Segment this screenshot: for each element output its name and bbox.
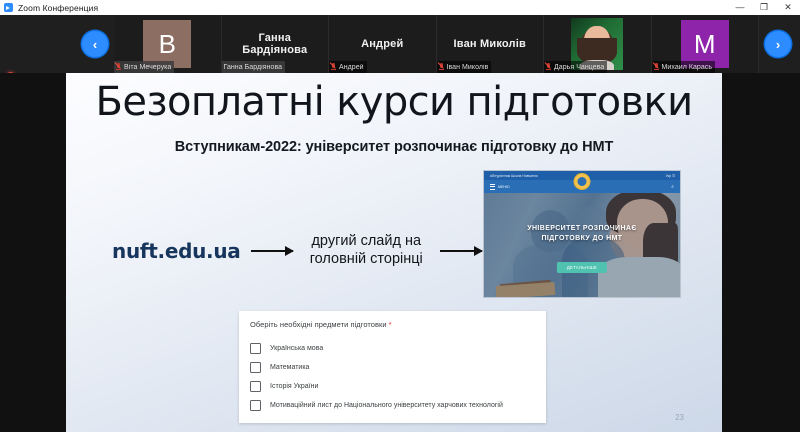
filmstrip-next-icon[interactable]: › (765, 31, 791, 57)
website-top-bar-links: Абітурієнтам Школа Навчання (490, 174, 538, 178)
form-option[interactable]: Українська мова (250, 339, 538, 358)
participant-namebar: Дарья Чанцева (544, 61, 607, 73)
participant-namebar: Іван Миколів (437, 61, 492, 73)
filmstrip-prev-icon[interactable]: ‹ (82, 31, 108, 57)
participant-display-name: Іван Миколів (450, 38, 530, 50)
hamburger-menu-icon (490, 184, 495, 190)
website-top-bar-right: Укр ☰ (666, 174, 675, 178)
website-url-text: nuft.edu.ua (112, 239, 241, 263)
university-logo-icon (574, 173, 591, 190)
flow-step-text: другий слайд на головній сторінці (303, 233, 431, 268)
mic-muted-icon (331, 63, 336, 71)
form-option-label: Історія України (270, 383, 318, 390)
participant-name: Михаил Карась (662, 64, 713, 71)
checkbox-icon[interactable] (250, 381, 261, 392)
window-title-bar: Zoom Конференция — ❐ ✕ (0, 0, 800, 16)
participant-name: Дарья Чанцева (554, 64, 604, 71)
google-form-card: Оберіть необхідні предмети підготовки* У… (239, 311, 546, 423)
participant-filmstrip: ‹ В Віта Мечерука Ганна Бардіянова Ганна… (0, 15, 800, 73)
window-controls: — ❐ ✕ (728, 0, 800, 15)
minimize-button[interactable]: — (728, 0, 752, 15)
form-option[interactable]: Математика (250, 358, 538, 377)
participant-namebar: Віта Мечерука (114, 61, 174, 73)
slide-title: Безоплатні курси підготовки (66, 79, 722, 125)
required-mark: * (389, 320, 392, 329)
form-option[interactable]: Історія України (250, 377, 538, 396)
form-question: Оберіть необхідні предмети підготовки* (250, 320, 392, 329)
mic-muted-icon (116, 63, 121, 71)
form-question-text: Оберіть необхідні предмети підготовки (250, 320, 387, 329)
mic-muted-icon (546, 63, 551, 71)
participant-name: Віта Мечерука (124, 64, 171, 71)
slide-subtitle: Вступникам-2022: університет розпочинає … (66, 139, 722, 155)
participant-tile[interactable]: В Віта Мечерука (114, 15, 222, 73)
arrow-right-icon (251, 250, 293, 252)
participant-name: Ганна Бардіянова (224, 64, 283, 71)
participant-name: Іван Миколів (447, 64, 489, 71)
zoom-icon (4, 3, 13, 12)
participant-display-name: Ганна Бардіянова (222, 32, 329, 56)
website-preview-image: Абітурієнтам Школа Навчання Укр ☰ МЕНЮ ⌕ (483, 170, 681, 298)
website-menu-label: МЕНЮ (498, 185, 510, 189)
participant-tiles: В Віта Мечерука Ганна Бардіянова Ганна Б… (114, 15, 759, 73)
participant-tile[interactable]: Дарья Чанцева (544, 15, 652, 73)
zoom-meeting-window: Zoom Конференция — ❐ ✕ ‹ В Віта Мечерука… (0, 0, 800, 432)
form-option-label: Українська мова (270, 345, 323, 352)
participant-tile[interactable]: Андрей Андрей (329, 15, 437, 73)
form-option-label: Мотиваційний лист до Національного уніве… (270, 402, 503, 409)
website-headline: УНІВЕРСИТЕТ РОЗПОЧИНАЄ ПІДГОТОВКУ ДО НМТ (484, 224, 680, 245)
participant-tile[interactable]: Іван Миколів Іван Миколів (437, 15, 545, 73)
website-hero-photo (484, 193, 680, 298)
checkbox-icon[interactable] (250, 400, 261, 411)
participant-display-name: Андрей (357, 38, 407, 50)
shared-screen-stage: Безоплатні курси підготовки Вступникам-2… (0, 73, 800, 432)
participant-namebar: Андрей (329, 61, 367, 73)
form-options: Українська мова Математика Історія Украї… (250, 339, 538, 415)
restore-button[interactable]: ❐ (752, 0, 776, 15)
form-option-label: Математика (270, 364, 309, 371)
website-headline-line2: ПІДГОТОВКУ ДО НМТ (484, 234, 680, 245)
close-button[interactable]: ✕ (776, 0, 800, 15)
window-title: Zoom Конференция (18, 3, 98, 13)
checkbox-icon[interactable] (250, 343, 261, 354)
participant-tile[interactable]: M Михаил Карась (652, 15, 760, 73)
search-icon: ⌕ (671, 184, 674, 190)
slide-number: 23 (675, 413, 684, 422)
arrow-right-icon (440, 250, 482, 252)
checkbox-icon[interactable] (250, 362, 261, 373)
participant-tile[interactable]: Ганна Бардіянова Ганна Бардіянова (222, 15, 330, 73)
flow-diagram: nuft.edu.ua другий слайд на головній сто… (112, 223, 492, 279)
presentation-slide[interactable]: Безоплатні курси підготовки Вступникам-2… (66, 73, 722, 432)
website-cta-button: ДЕТАЛЬНІШЕ (557, 262, 607, 273)
mic-muted-icon (654, 63, 659, 71)
participant-name: Андрей (339, 64, 364, 71)
website-headline-line1: УНІВЕРСИТЕТ РОЗПОЧИНАЄ (484, 224, 680, 235)
mic-muted-icon (439, 63, 444, 71)
form-option[interactable]: Мотиваційний лист до Національного уніве… (250, 396, 538, 415)
participant-namebar: Ганна Бардіянова (222, 61, 286, 73)
participant-namebar: Михаил Карась (652, 61, 716, 73)
